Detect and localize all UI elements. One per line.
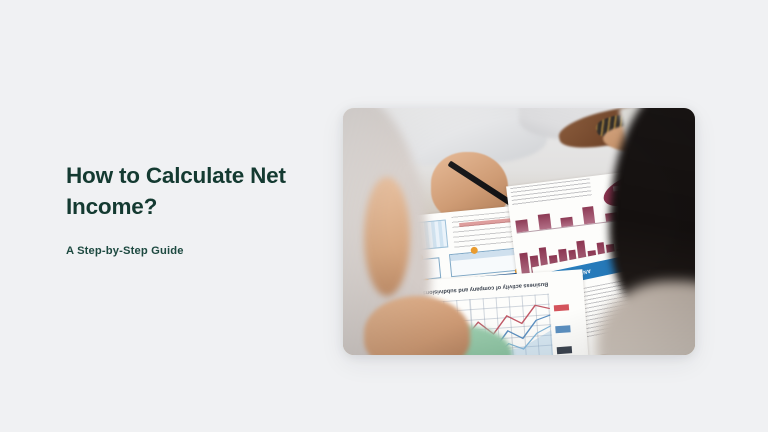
text-block: How to Calculate Net Income? A Step-by-S…: [66, 160, 306, 257]
slide-canvas: How to Calculate Net Income? A Step-by-S…: [0, 0, 768, 432]
activity-chart-legend: [553, 303, 582, 354]
page-subtitle: A Step-by-Step Guide: [66, 245, 306, 257]
foreground-face-left: [364, 177, 410, 296]
page-title: How to Calculate Net Income?: [66, 160, 306, 222]
activity-chart-title: Business activity of company and subdivi…: [422, 281, 548, 296]
hero-image-card: GAS Bill: [343, 108, 695, 355]
hero-photo: GAS Bill: [343, 108, 695, 355]
